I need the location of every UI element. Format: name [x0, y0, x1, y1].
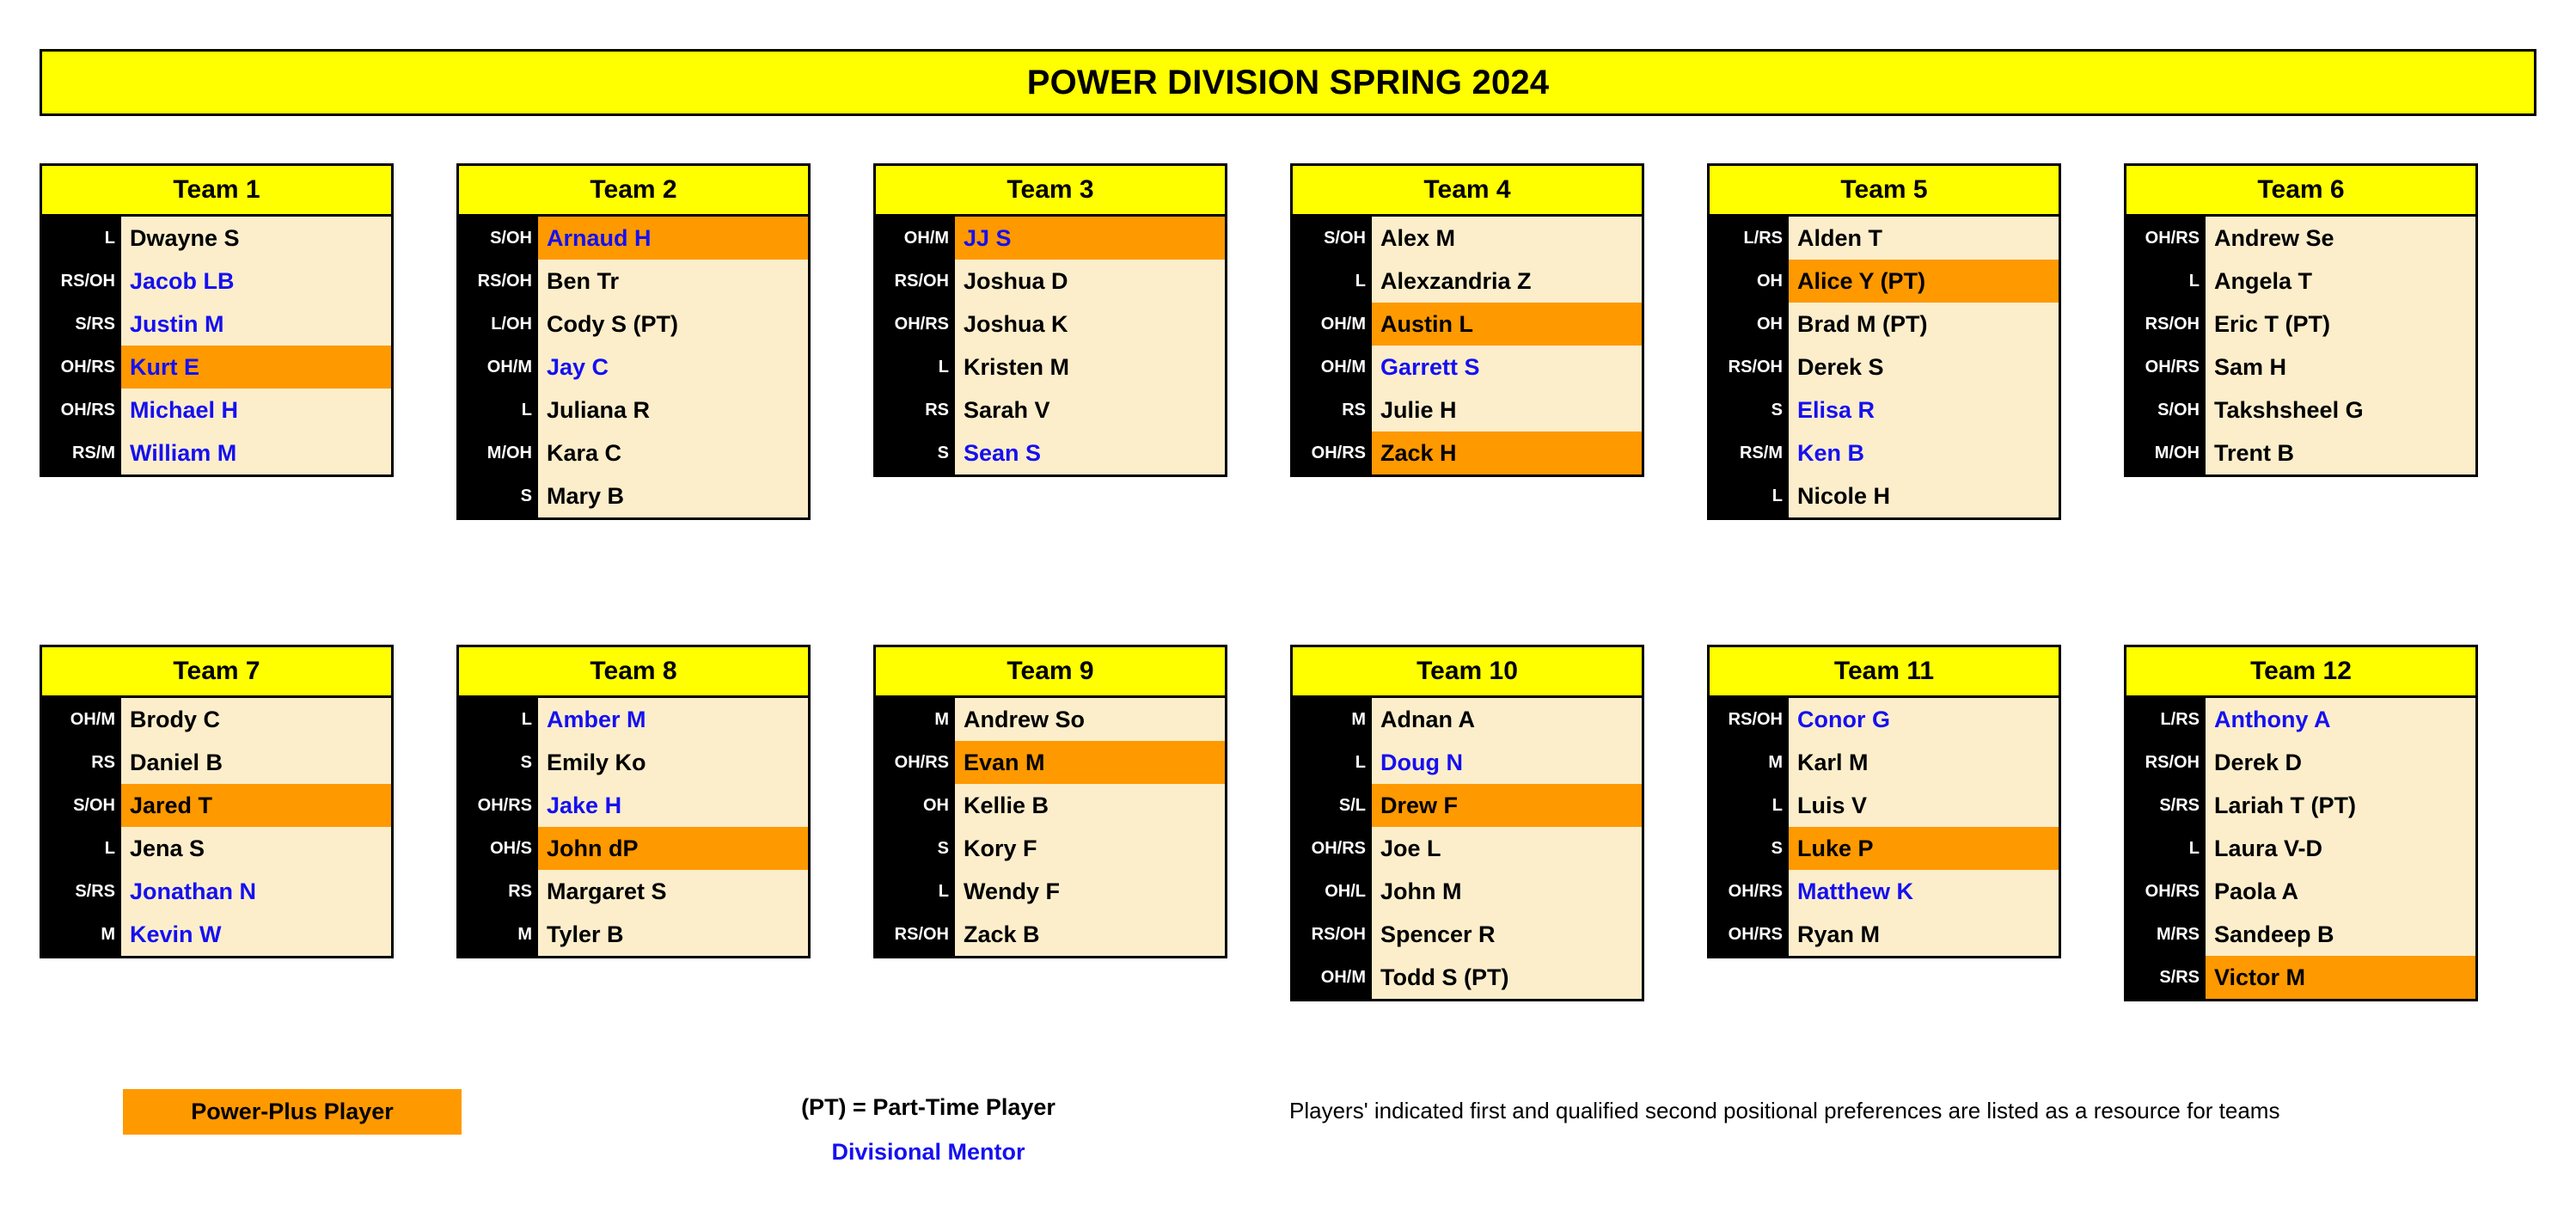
player-name: Todd S (PT)	[1372, 956, 1642, 999]
player-position: L/OH	[459, 303, 538, 346]
team-header: Team 12	[2126, 647, 2475, 698]
player-name: Luke P	[1789, 827, 2059, 870]
player-name: Alex M	[1372, 217, 1642, 260]
player-position: OH/M	[876, 217, 955, 260]
player-name: Zack H	[1372, 432, 1642, 474]
team-roster: L/RSAnthony ARS/OHDerek DS/RSLariah T (P…	[2126, 698, 2475, 999]
player-name: Wendy F	[955, 870, 1225, 913]
player-position: OH/RS	[1293, 827, 1372, 870]
player-name: Justin M	[121, 303, 391, 346]
player-name: Jacob LB	[121, 260, 391, 303]
player-name: Nicole H	[1789, 474, 2059, 517]
player-position: RS/M	[1710, 432, 1789, 474]
player-position: OH/RS	[876, 741, 955, 784]
player-position: RS	[1293, 389, 1372, 432]
team-header: Team 6	[2126, 166, 2475, 217]
player-name: Ben Tr	[538, 260, 808, 303]
team-card: Team 6OH/RSAndrew SeLAngela TRS/OHEric T…	[2124, 163, 2478, 477]
player-position: RS/OH	[42, 260, 121, 303]
player-position: S	[876, 827, 955, 870]
player-row: OH/LJohn M	[1293, 870, 1642, 913]
player-name: Eric T (PT)	[2206, 303, 2475, 346]
player-row: LKristen M	[876, 346, 1225, 389]
player-position: L	[2126, 260, 2206, 303]
team-roster: MAndrew SoOH/RSEvan MOHKellie BSKory FLW…	[876, 698, 1225, 956]
player-name: Jared T	[121, 784, 391, 827]
player-row: L/OHCody S (PT)	[459, 303, 808, 346]
player-row: RSDaniel B	[42, 741, 391, 784]
player-position: S/RS	[42, 303, 121, 346]
player-name: Kara C	[538, 432, 808, 474]
player-name: Jena S	[121, 827, 391, 870]
player-row: S/OHArnaud H	[459, 217, 808, 260]
player-name: John M	[1372, 870, 1642, 913]
player-row: OH/MTodd S (PT)	[1293, 956, 1642, 999]
player-position: M	[1710, 741, 1789, 784]
team-card: Team 9MAndrew SoOH/RSEvan MOHKellie BSKo…	[873, 645, 1227, 958]
player-row: OHAlice Y (PT)	[1710, 260, 2059, 303]
team-row-top: Team 1LDwayne SRS/OHJacob LBS/RSJustin M…	[40, 163, 2536, 520]
player-position: L	[1710, 474, 1789, 517]
player-position: S/OH	[1293, 217, 1372, 260]
player-row: MAdnan A	[1293, 698, 1642, 741]
player-row: S/RSLariah T (PT)	[2126, 784, 2475, 827]
legend-positional-preference-note: Players' indicated first and qualified s…	[1289, 1098, 2493, 1124]
player-name: Ryan M	[1789, 913, 2059, 956]
player-position: L	[1293, 260, 1372, 303]
player-position: RS/M	[42, 432, 121, 474]
team-slot: Team 12L/RSAnthony ARS/OHDerek DS/RSLari…	[2124, 645, 2541, 1001]
player-row: LLaura V-D	[2126, 827, 2475, 870]
player-position: S/OH	[42, 784, 121, 827]
team-card: Team 3OH/MJJ SRS/OHJoshua DOH/RSJoshua K…	[873, 163, 1227, 477]
player-row: L/RSAnthony A	[2126, 698, 2475, 741]
player-position: OH/RS	[42, 389, 121, 432]
player-name: Margaret S	[538, 870, 808, 913]
player-name: Elisa R	[1789, 389, 2059, 432]
team-roster: RS/OHConor GMKarl MLLuis VSLuke POH/RSMa…	[1710, 698, 2059, 956]
player-name: Joe L	[1372, 827, 1642, 870]
player-position: RS/OH	[876, 913, 955, 956]
team-card: Team 8LAmber MSEmily KoOH/RSJake HOH/SJo…	[456, 645, 811, 958]
team-header: Team 1	[42, 166, 391, 217]
player-position: S/RS	[2126, 784, 2206, 827]
player-row: RS/OHDerek D	[2126, 741, 2475, 784]
team-name: Team 11	[1834, 657, 1934, 686]
player-row: OH/RSMichael H	[42, 389, 391, 432]
player-position: OH/RS	[2126, 870, 2206, 913]
team-header: Team 5	[1710, 166, 2059, 217]
player-position: L	[459, 698, 538, 741]
player-row: OH/MJJ S	[876, 217, 1225, 260]
player-name: Jonathan N	[121, 870, 391, 913]
player-name: Jay C	[538, 346, 808, 389]
player-name: Sarah V	[955, 389, 1225, 432]
player-name: Emily Ko	[538, 741, 808, 784]
player-row: OH/MAustin L	[1293, 303, 1642, 346]
player-position: S	[459, 741, 538, 784]
team-header: Team 10	[1293, 647, 1642, 698]
team-card: Team 4S/OHAlex MLAlexzandria ZOH/MAustin…	[1290, 163, 1644, 477]
team-name: Team 4	[1423, 175, 1510, 205]
player-row: LAngela T	[2126, 260, 2475, 303]
team-slot: Team 5L/RSAlden TOHAlice Y (PT)OHBrad M …	[1707, 163, 2124, 520]
player-position: OH/M	[459, 346, 538, 389]
player-position: OH/RS	[42, 346, 121, 389]
player-name: Joshua D	[955, 260, 1225, 303]
player-row: OH/RSZack H	[1293, 432, 1642, 474]
player-position: S/L	[1293, 784, 1372, 827]
player-position: RS/OH	[459, 260, 538, 303]
team-name: Team 12	[2250, 657, 2352, 686]
player-row: LLuis V	[1710, 784, 2059, 827]
player-row: RS/OHConor G	[1710, 698, 2059, 741]
player-position: OH/S	[459, 827, 538, 870]
player-row: S/LDrew F	[1293, 784, 1642, 827]
player-name: Daniel B	[121, 741, 391, 784]
player-position: S/OH	[459, 217, 538, 260]
player-row: SEmily Ko	[459, 741, 808, 784]
player-name: Arnaud H	[538, 217, 808, 260]
player-row: OH/RSSam H	[2126, 346, 2475, 389]
team-header: Team 8	[459, 647, 808, 698]
player-row: RS/OHBen Tr	[459, 260, 808, 303]
player-row: LJuliana R	[459, 389, 808, 432]
player-position: RS	[42, 741, 121, 784]
legend-divisional-mentor-label: Divisional Mentor	[705, 1139, 1152, 1166]
team-slot: Team 6OH/RSAndrew SeLAngela TRS/OHEric T…	[2124, 163, 2541, 520]
player-position: RS	[876, 389, 955, 432]
team-card: Team 11RS/OHConor GMKarl MLLuis VSLuke P…	[1707, 645, 2061, 958]
team-row-bottom: Team 7OH/MBrody CRSDaniel BS/OHJared TLJ…	[40, 645, 2536, 1001]
player-position: L/RS	[2126, 698, 2206, 741]
player-row: S/OHJared T	[42, 784, 391, 827]
team-card: Team 12L/RSAnthony ARS/OHDerek DS/RSLari…	[2124, 645, 2478, 1001]
player-name: Julie H	[1372, 389, 1642, 432]
player-name: Sean S	[955, 432, 1225, 474]
player-row: S/OHAlex M	[1293, 217, 1642, 260]
player-row: OH/RSJake H	[459, 784, 808, 827]
team-slot: Team 7OH/MBrody CRSDaniel BS/OHJared TLJ…	[40, 645, 456, 1001]
player-name: Brad M (PT)	[1789, 303, 2059, 346]
player-name: Austin L	[1372, 303, 1642, 346]
player-position: S	[1710, 827, 1789, 870]
player-row: LJena S	[42, 827, 391, 870]
player-row: OH/MJay C	[459, 346, 808, 389]
player-name: Alexzandria Z	[1372, 260, 1642, 303]
team-name: Team 2	[590, 175, 676, 205]
player-row: M/OHKara C	[459, 432, 808, 474]
player-name: Trent B	[2206, 432, 2475, 474]
player-row: L/RSAlden T	[1710, 217, 2059, 260]
player-name: Cody S (PT)	[538, 303, 808, 346]
player-position: OH/RS	[876, 303, 955, 346]
player-row: S/RSJonathan N	[42, 870, 391, 913]
player-position: RS/OH	[1710, 698, 1789, 741]
player-row: SElisa R	[1710, 389, 2059, 432]
team-roster: MAdnan ALDoug NS/LDrew FOH/RSJoe LOH/LJo…	[1293, 698, 1642, 999]
team-name: Team 8	[590, 657, 676, 686]
team-roster: S/OHAlex MLAlexzandria ZOH/MAustin LOH/M…	[1293, 217, 1642, 474]
player-row: RS/OHSpencer R	[1293, 913, 1642, 956]
player-row: OHKellie B	[876, 784, 1225, 827]
player-row: LAmber M	[459, 698, 808, 741]
player-name: Kory F	[955, 827, 1225, 870]
team-header: Team 3	[876, 166, 1225, 217]
player-row: OH/MGarrett S	[1293, 346, 1642, 389]
player-position: L	[876, 346, 955, 389]
team-name: Team 3	[1007, 175, 1093, 205]
player-position: M/OH	[2126, 432, 2206, 474]
player-position: L	[2126, 827, 2206, 870]
team-slot: Team 10MAdnan ALDoug NS/LDrew FOH/RSJoe …	[1290, 645, 1707, 1001]
player-position: OH/RS	[1710, 870, 1789, 913]
player-position: L	[42, 217, 121, 260]
player-position: OH/M	[1293, 956, 1372, 999]
player-row: OH/RSAndrew Se	[2126, 217, 2475, 260]
team-name: Team 10	[1416, 657, 1518, 686]
player-row: SKory F	[876, 827, 1225, 870]
player-position: RS/OH	[1293, 913, 1372, 956]
player-name: Joshua K	[955, 303, 1225, 346]
page-title: POWER DIVISION SPRING 2024	[1027, 64, 1550, 102]
team-roster: L/RSAlden TOHAlice Y (PT)OHBrad M (PT)RS…	[1710, 217, 2059, 517]
player-row: OH/RSRyan M	[1710, 913, 2059, 956]
player-row: LNicole H	[1710, 474, 2059, 517]
team-card: Team 7OH/MBrody CRSDaniel BS/OHJared TLJ…	[40, 645, 394, 958]
player-position: OH/RS	[459, 784, 538, 827]
player-row: OH/RSJoe L	[1293, 827, 1642, 870]
player-row: MTyler B	[459, 913, 808, 956]
player-name: Andrew So	[955, 698, 1225, 741]
player-name: Kellie B	[955, 784, 1225, 827]
player-name: Derek D	[2206, 741, 2475, 784]
team-roster: OH/MBrody CRSDaniel BS/OHJared TLJena SS…	[42, 698, 391, 956]
player-name: Alice Y (PT)	[1789, 260, 2059, 303]
player-row: SMary B	[459, 474, 808, 517]
player-name: Kristen M	[955, 346, 1225, 389]
team-name: Team 9	[1007, 657, 1093, 686]
player-name: Brody C	[121, 698, 391, 741]
team-slot: Team 4S/OHAlex MLAlexzandria ZOH/MAustin…	[1290, 163, 1707, 520]
player-row: OH/RSEvan M	[876, 741, 1225, 784]
team-slot: Team 9MAndrew SoOH/RSEvan MOHKellie BSKo…	[873, 645, 1290, 1001]
team-name: Team 7	[173, 657, 260, 686]
player-position: RS/OH	[2126, 303, 2206, 346]
player-position: L	[42, 827, 121, 870]
team-name: Team 6	[2257, 175, 2344, 205]
player-name: Adnan A	[1372, 698, 1642, 741]
player-name: Spencer R	[1372, 913, 1642, 956]
player-position: OH/RS	[1293, 432, 1372, 474]
player-position: L/RS	[1710, 217, 1789, 260]
team-roster: S/OHArnaud HRS/OHBen TrL/OHCody S (PT)OH…	[459, 217, 808, 517]
player-row: RSMargaret S	[459, 870, 808, 913]
team-slot: Team 11RS/OHConor GMKarl MLLuis VSLuke P…	[1707, 645, 2124, 1001]
player-row: MAndrew So	[876, 698, 1225, 741]
player-position: OH/L	[1293, 870, 1372, 913]
player-position: S/OH	[2126, 389, 2206, 432]
player-position: S	[459, 474, 538, 517]
team-slot: Team 3OH/MJJ SRS/OHJoshua DOH/RSJoshua K…	[873, 163, 1290, 520]
player-row: RSJulie H	[1293, 389, 1642, 432]
player-name: Juliana R	[538, 389, 808, 432]
player-row: M/OHTrent B	[2126, 432, 2475, 474]
player-row: RS/MWilliam M	[42, 432, 391, 474]
player-position: S	[1710, 389, 1789, 432]
player-row: S/RSJustin M	[42, 303, 391, 346]
team-roster: OH/MJJ SRS/OHJoshua DOH/RSJoshua KLKrist…	[876, 217, 1225, 474]
player-name: Victor M	[2206, 956, 2475, 999]
legend-part-time-label: (PT) = Part-Time Player	[705, 1094, 1152, 1121]
player-position: S/RS	[42, 870, 121, 913]
player-name: Anthony A	[2206, 698, 2475, 741]
player-position: OH/RS	[2126, 217, 2206, 260]
player-row: M/RSSandeep B	[2126, 913, 2475, 956]
player-name: Takshsheel G	[2206, 389, 2475, 432]
player-name: Alden T	[1789, 217, 2059, 260]
player-name: Paola A	[2206, 870, 2475, 913]
player-name: Andrew Se	[2206, 217, 2475, 260]
player-position: L	[876, 870, 955, 913]
player-name: Zack B	[955, 913, 1225, 956]
player-name: John dP	[538, 827, 808, 870]
player-name: Conor G	[1789, 698, 2059, 741]
player-name: JJ S	[955, 217, 1225, 260]
player-row: RS/OHJacob LB	[42, 260, 391, 303]
player-row: RS/OHEric T (PT)	[2126, 303, 2475, 346]
player-row: MKarl M	[1710, 741, 2059, 784]
player-name: Derek S	[1789, 346, 2059, 389]
player-row: LWendy F	[876, 870, 1225, 913]
player-position: M/RS	[2126, 913, 2206, 956]
player-position: OH/M	[1293, 303, 1372, 346]
player-name: Mary B	[538, 474, 808, 517]
player-name: Amber M	[538, 698, 808, 741]
player-row: S/RSVictor M	[2126, 956, 2475, 999]
team-slot: Team 1LDwayne SRS/OHJacob LBS/RSJustin M…	[40, 163, 456, 520]
team-header: Team 11	[1710, 647, 2059, 698]
player-row: LAlexzandria Z	[1293, 260, 1642, 303]
player-position: RS/OH	[2126, 741, 2206, 784]
legend: Power-Plus Player (PT) = Part-Time Playe…	[0, 1079, 2576, 1191]
player-name: Tyler B	[538, 913, 808, 956]
player-row: OH/RSJoshua K	[876, 303, 1225, 346]
team-name: Team 1	[173, 175, 260, 205]
player-row: RS/OHJoshua D	[876, 260, 1225, 303]
player-row: RS/OHDerek S	[1710, 346, 2059, 389]
player-position: RS	[459, 870, 538, 913]
player-row: LDwayne S	[42, 217, 391, 260]
player-row: OH/RSKurt E	[42, 346, 391, 389]
player-position: M/OH	[459, 432, 538, 474]
player-name: Kevin W	[121, 913, 391, 956]
team-slot: Team 2S/OHArnaud HRS/OHBen TrL/OHCody S …	[456, 163, 873, 520]
player-row: MKevin W	[42, 913, 391, 956]
player-name: Matthew K	[1789, 870, 2059, 913]
team-roster: LDwayne SRS/OHJacob LBS/RSJustin MOH/RSK…	[42, 217, 391, 474]
player-row: RSSarah V	[876, 389, 1225, 432]
player-position: M	[876, 698, 955, 741]
team-header: Team 9	[876, 647, 1225, 698]
player-name: Jake H	[538, 784, 808, 827]
team-roster: LAmber MSEmily KoOH/RSJake HOH/SJohn dPR…	[459, 698, 808, 956]
division-title-banner: POWER DIVISION SPRING 2024	[40, 49, 2536, 116]
player-position: S/RS	[2126, 956, 2206, 999]
team-roster: OH/RSAndrew SeLAngela TRS/OHEric T (PT)O…	[2126, 217, 2475, 474]
player-position: OH/M	[1293, 346, 1372, 389]
team-header: Team 4	[1293, 166, 1642, 217]
team-card: Team 5L/RSAlden TOHAlice Y (PT)OHBrad M …	[1707, 163, 2061, 520]
player-name: Kurt E	[121, 346, 391, 389]
team-name: Team 5	[1840, 175, 1927, 205]
player-position: L	[1710, 784, 1789, 827]
player-row: OH/SJohn dP	[459, 827, 808, 870]
team-slot: Team 8LAmber MSEmily KoOH/RSJake HOH/SJo…	[456, 645, 873, 1001]
player-name: Ken B	[1789, 432, 2059, 474]
player-position: OH	[1710, 303, 1789, 346]
team-card: Team 2S/OHArnaud HRS/OHBen TrL/OHCody S …	[456, 163, 811, 520]
player-position: RS/OH	[1710, 346, 1789, 389]
player-row: OH/RSPaola A	[2126, 870, 2475, 913]
player-row: SSean S	[876, 432, 1225, 474]
player-row: OH/MBrody C	[42, 698, 391, 741]
legend-power-plus-swatch: Power-Plus Player	[123, 1089, 462, 1135]
player-name: Sandeep B	[2206, 913, 2475, 956]
player-name: Angela T	[2206, 260, 2475, 303]
player-name: Drew F	[1372, 784, 1642, 827]
team-card: Team 1LDwayne SRS/OHJacob LBS/RSJustin M…	[40, 163, 394, 477]
player-row: OH/RSMatthew K	[1710, 870, 2059, 913]
player-row: OHBrad M (PT)	[1710, 303, 2059, 346]
player-name: Lariah T (PT)	[2206, 784, 2475, 827]
player-name: William M	[121, 432, 391, 474]
player-name: Laura V-D	[2206, 827, 2475, 870]
player-position: OH	[876, 784, 955, 827]
team-card: Team 10MAdnan ALDoug NS/LDrew FOH/RSJoe …	[1290, 645, 1644, 1001]
player-position: OH/M	[42, 698, 121, 741]
player-position: S	[876, 432, 955, 474]
player-row: SLuke P	[1710, 827, 2059, 870]
legend-power-plus-label: Power-Plus Player	[191, 1099, 394, 1125]
player-position: RS/OH	[876, 260, 955, 303]
player-position: L	[459, 389, 538, 432]
player-position: L	[1293, 741, 1372, 784]
player-name: Sam H	[2206, 346, 2475, 389]
player-name: Luis V	[1789, 784, 2059, 827]
player-name: Evan M	[955, 741, 1225, 784]
player-position: M	[459, 913, 538, 956]
player-name: Doug N	[1372, 741, 1642, 784]
player-row: RS/OHZack B	[876, 913, 1225, 956]
player-name: Dwayne S	[121, 217, 391, 260]
team-header: Team 7	[42, 647, 391, 698]
player-position: OH	[1710, 260, 1789, 303]
player-row: RS/MKen B	[1710, 432, 2059, 474]
player-name: Garrett S	[1372, 346, 1642, 389]
player-position: M	[1293, 698, 1372, 741]
player-position: OH/RS	[1710, 913, 1789, 956]
player-row: LDoug N	[1293, 741, 1642, 784]
player-position: OH/RS	[2126, 346, 2206, 389]
team-header: Team 2	[459, 166, 808, 217]
player-position: M	[42, 913, 121, 956]
player-name: Michael H	[121, 389, 391, 432]
player-row: S/OHTakshsheel G	[2126, 389, 2475, 432]
player-name: Karl M	[1789, 741, 2059, 784]
